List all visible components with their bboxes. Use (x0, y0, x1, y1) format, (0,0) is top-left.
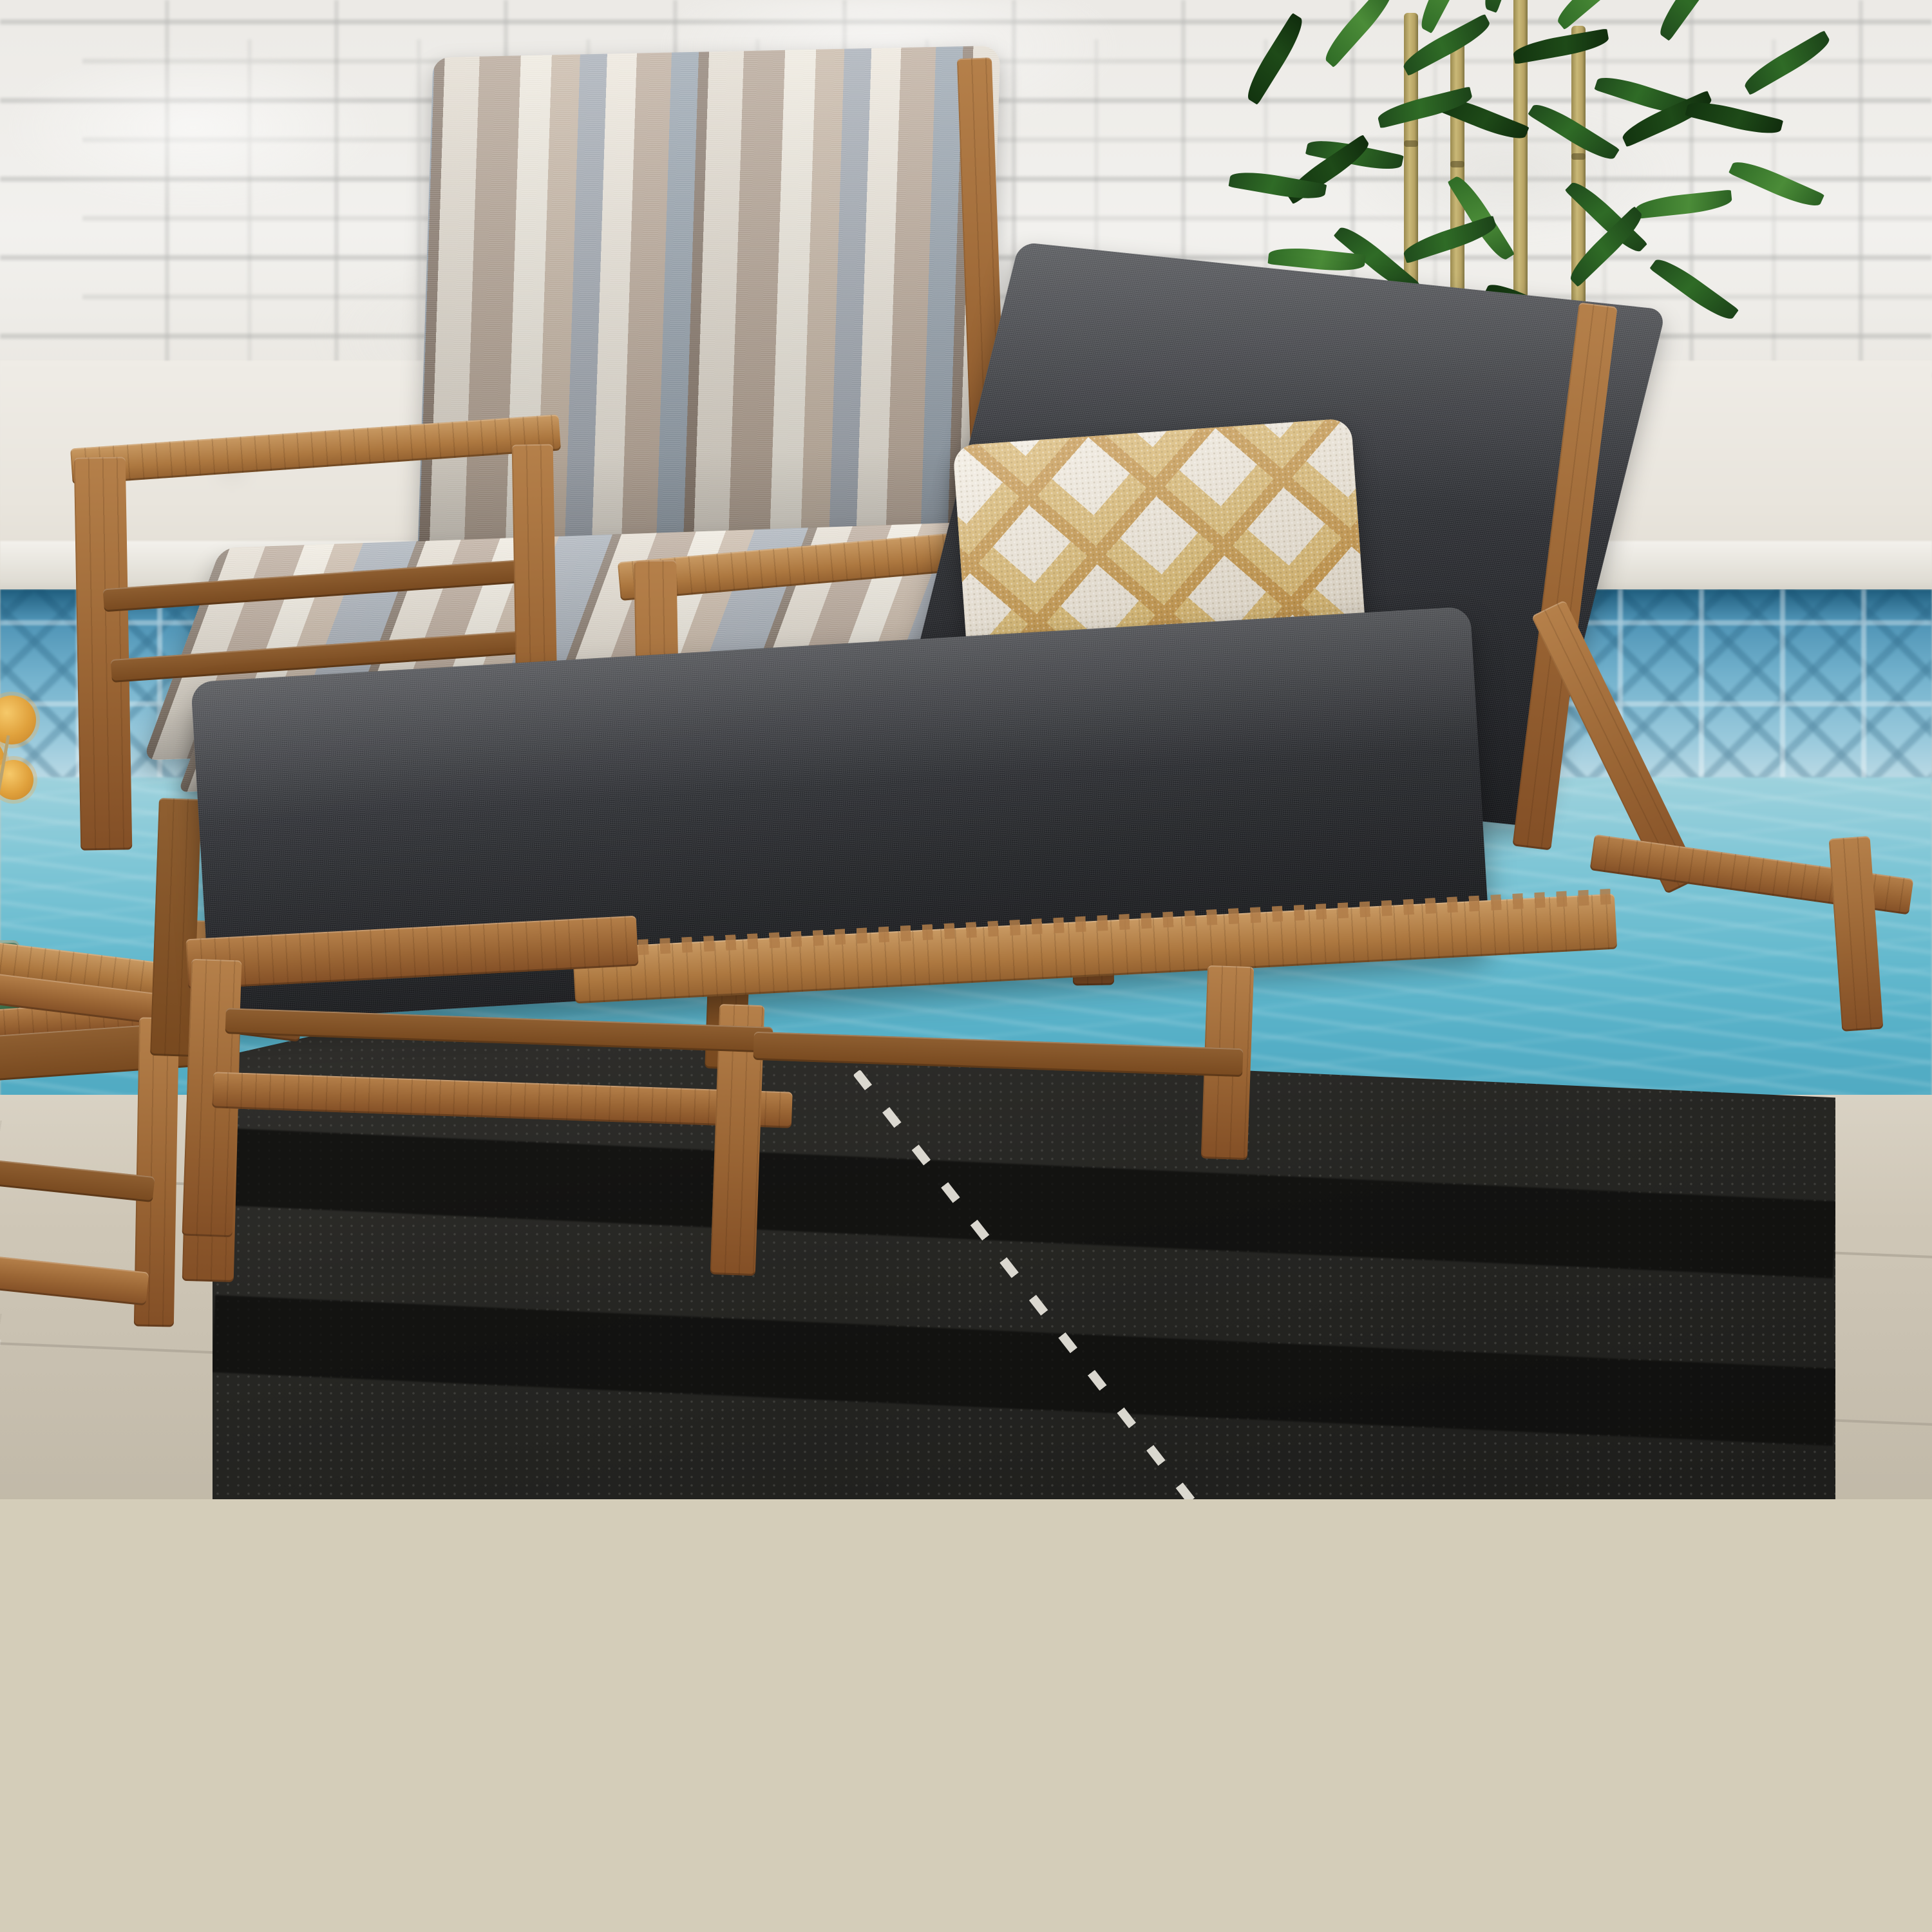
hero-photo (0, 0, 1932, 1499)
chaise-lounge (303, 277, 1932, 1282)
marketing-banner: Build Your Outdoor Oasis Honeycomb patio… (0, 0, 1932, 1932)
chaise-rear-stretcher (753, 1032, 1243, 1077)
armchair-front-leg-left (74, 457, 133, 850)
text-band: Build Your Outdoor Oasis Honeycomb patio… (0, 1499, 1932, 1932)
chaise-rear-leg-far (1829, 836, 1884, 1032)
chaise-front-apron (225, 1008, 773, 1053)
